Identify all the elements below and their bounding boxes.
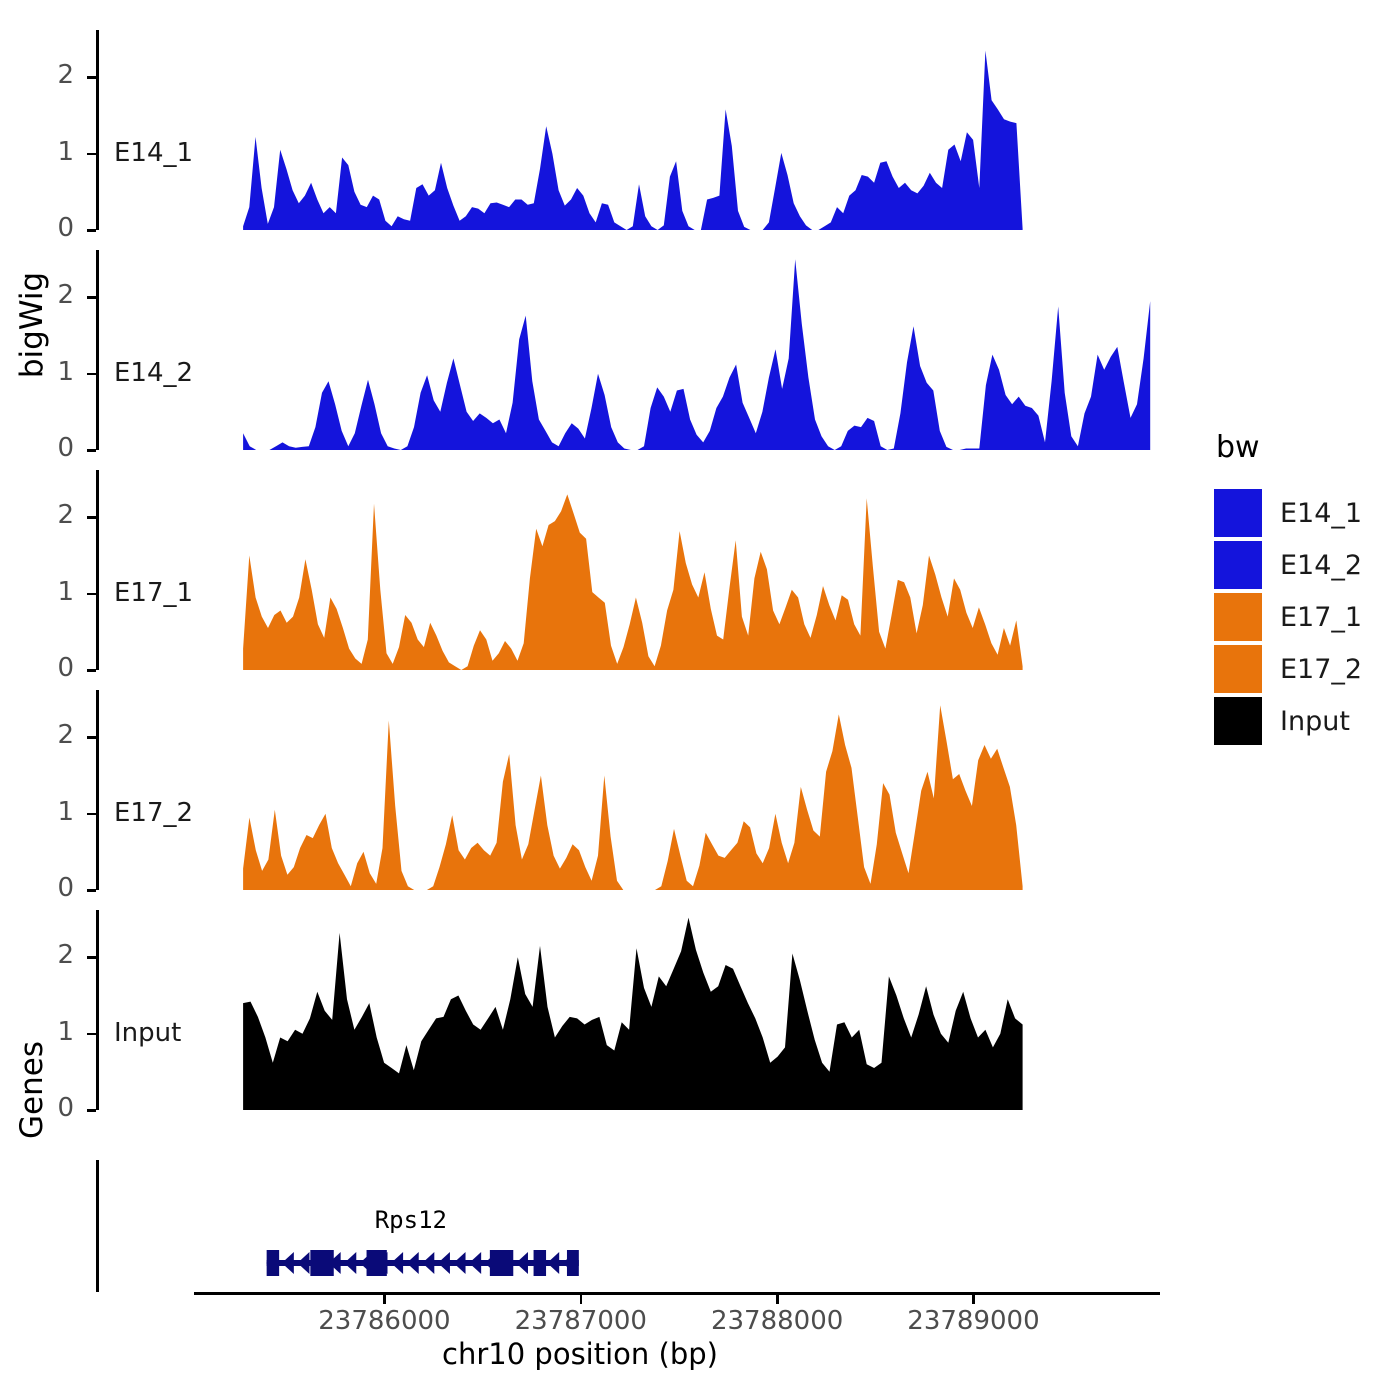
legend-item-e17_1[interactable]: E17_1 [1214, 591, 1362, 643]
x-axis-tick [383, 1294, 386, 1304]
legend-title: bw [1216, 430, 1362, 465]
x-axis-tick-label: 23789000 [883, 1306, 1063, 1336]
y-axis-tick [87, 956, 96, 959]
coverage-area-e17_2 [96, 690, 1160, 890]
coverage-area-e17_1 [96, 470, 1160, 670]
track-panel-e14_1: 012E14_1 [96, 30, 1160, 230]
y-axis-tick [87, 813, 96, 816]
y-axis-tick [87, 153, 96, 156]
legend-item-label: E14_1 [1280, 498, 1362, 529]
y-axis-tick-label: 1 [34, 577, 74, 607]
y-axis-tick [87, 1109, 96, 1112]
y-axis-tick-label: 0 [34, 433, 74, 463]
x-axis-tick [972, 1294, 975, 1304]
y-axis-tick [87, 229, 96, 232]
y-axis-tick-label: 2 [34, 500, 74, 530]
legend-item-label: Input [1280, 706, 1350, 737]
legend-item-e17_2[interactable]: E17_2 [1214, 643, 1362, 695]
legend-item-label: E17_2 [1280, 654, 1362, 685]
legend-item-input[interactable]: Input [1214, 695, 1362, 747]
y-axis-tick [87, 373, 96, 376]
y-axis-tick [87, 593, 96, 596]
y-axis-tick-label: 2 [34, 940, 74, 970]
coverage-area-e14_1 [96, 30, 1160, 230]
track-panel-e17_1: 012E17_1 [96, 470, 1160, 670]
gene-model[interactable] [96, 1246, 1136, 1280]
gene-name-label: Rps12 [375, 1206, 447, 1234]
y-axis-tick-label: 1 [34, 797, 74, 827]
y-axis-tick-label: 1 [34, 1017, 74, 1047]
y-axis-tick-label: 0 [34, 1093, 74, 1123]
y-axis-tick-label: 0 [34, 213, 74, 243]
y-axis-tick-label: 0 [34, 653, 74, 683]
legend-color-swatch [1214, 645, 1262, 693]
legend-item-label: E17_1 [1280, 602, 1362, 633]
legend-color-swatch [1214, 541, 1262, 589]
legend-color-swatch [1214, 489, 1262, 537]
coverage-area-e14_2 [96, 250, 1160, 450]
x-axis-tick-label: 23786000 [294, 1306, 474, 1336]
legend-items: E14_1E14_2E17_1E17_2Input [1214, 487, 1362, 747]
legend-color-swatch [1214, 593, 1262, 641]
genes-panel: Rps12 [96, 1160, 1136, 1292]
track-panel-input: 012Input [96, 910, 1160, 1110]
legend-color-swatch [1214, 697, 1262, 745]
y-axis-tick [87, 736, 96, 739]
y-axis-tick [87, 516, 96, 519]
legend-item-e14_2[interactable]: E14_2 [1214, 539, 1362, 591]
y-axis-tick-label: 2 [34, 60, 74, 90]
y-axis-tick [87, 76, 96, 79]
x-axis-tick [580, 1294, 583, 1304]
x-axis-title: chr10 position (bp) [0, 1337, 1160, 1371]
y-axis-tick [87, 296, 96, 299]
y-axis-tick [87, 449, 96, 452]
x-axis-tick [776, 1294, 779, 1304]
y-axis-tick-label: 1 [34, 137, 74, 167]
y-axis-tick-label: 2 [34, 720, 74, 750]
y-axis-tick [87, 1033, 96, 1036]
x-axis-line [194, 1292, 1160, 1295]
y-axis-tick-label: 1 [34, 357, 74, 387]
legend-item-e14_1[interactable]: E14_1 [1214, 487, 1362, 539]
x-axis-tick-label: 23788000 [687, 1306, 867, 1336]
x-axis-tick-label: 23787000 [491, 1306, 671, 1336]
y-axis-tick-label: 0 [34, 873, 74, 903]
legend: bw E14_1E14_2E17_1E17_2Input [1214, 430, 1362, 747]
y-axis-tick [87, 669, 96, 672]
legend-item-label: E14_2 [1280, 550, 1362, 581]
y-axis-tick [87, 889, 96, 892]
track-panel-e17_2: 012E17_2 [96, 690, 1160, 890]
coverage-area-input [96, 910, 1160, 1110]
y-axis-tick-label: 2 [34, 280, 74, 310]
track-panel-e14_2: 012E14_2 [96, 250, 1160, 450]
